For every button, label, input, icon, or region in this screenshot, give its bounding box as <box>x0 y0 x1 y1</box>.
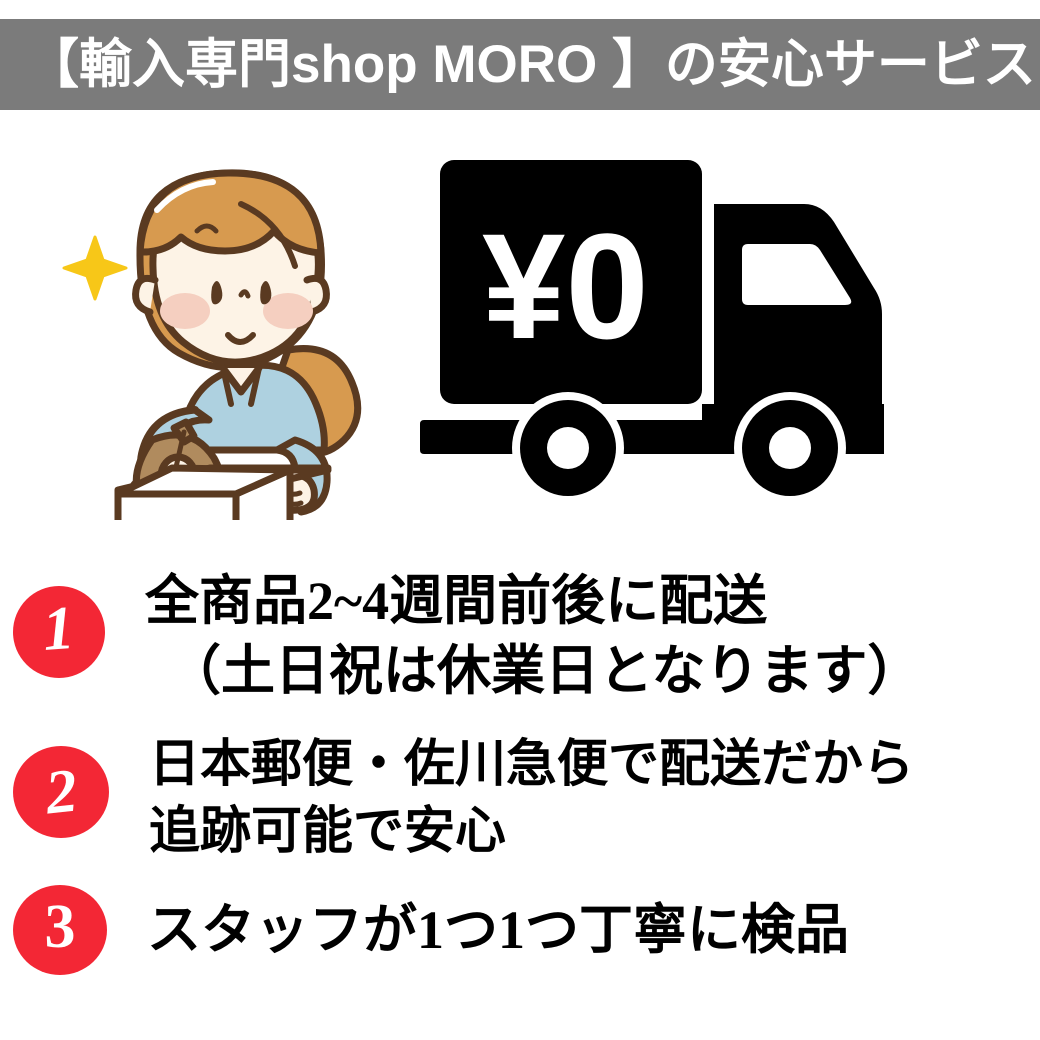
list-item: 2 日本郵便・佐川急便で配送だから 追跡可能で安心 <box>0 730 1040 865</box>
item-number-badge-2: 2 <box>13 746 109 838</box>
shipping-price-label: ¥0 <box>482 202 649 370</box>
item-number-1: 1 <box>40 593 76 666</box>
sparkle-icon <box>64 237 126 299</box>
item-number-2: 2 <box>42 755 80 829</box>
packing-staff-woman-illustration <box>45 140 415 520</box>
item-2-line-2: 追跡可能で安心 <box>149 799 914 865</box>
item-text-2: 日本郵便・佐川急便で配送だから 追跡可能で安心 <box>149 730 914 865</box>
header-band: 【輸入専門shop MORO 】の安心サービス <box>0 19 1040 110</box>
item-number-badge-1: 1 <box>13 586 105 678</box>
list-item: 1 全商品2~4週間前後に配送 （土日祝は休業日となります） <box>0 560 1040 706</box>
item-2-line-1: 日本郵便・佐川急便で配送だから <box>149 732 914 798</box>
page-title: 【輸入専門shop MORO 】の安心サービス <box>0 38 1036 91</box>
item-3-line-1: スタッフが1つ1つ丁寧に検品 <box>147 895 849 965</box>
item-text-3: スタッフが1つ1つ丁寧に検品 <box>147 877 849 965</box>
item-number-badge-3: 3 <box>13 885 107 975</box>
service-info-banner: 【輸入専門shop MORO 】の安心サービス <box>0 0 1040 1040</box>
item-1-line-1: 全商品2~4週間前後に配送 <box>145 566 921 636</box>
item-number-3: 3 <box>45 892 76 963</box>
illustration-area: ¥0 <box>0 120 1040 540</box>
truck-cab <box>714 204 882 410</box>
item-1-line-2: （土日祝は休業日となります） <box>145 636 921 706</box>
item-text-1: 全商品2~4週間前後に配送 （土日祝は休業日となります） <box>145 560 921 706</box>
service-points-list: 1 全商品2~4週間前後に配送 （土日祝は休業日となります） 2 日本郵便・佐川… <box>0 560 1040 975</box>
list-item: 3 スタッフが1つ1つ丁寧に検品 <box>0 877 1040 975</box>
free-shipping-truck-illustration: ¥0 <box>418 148 888 508</box>
